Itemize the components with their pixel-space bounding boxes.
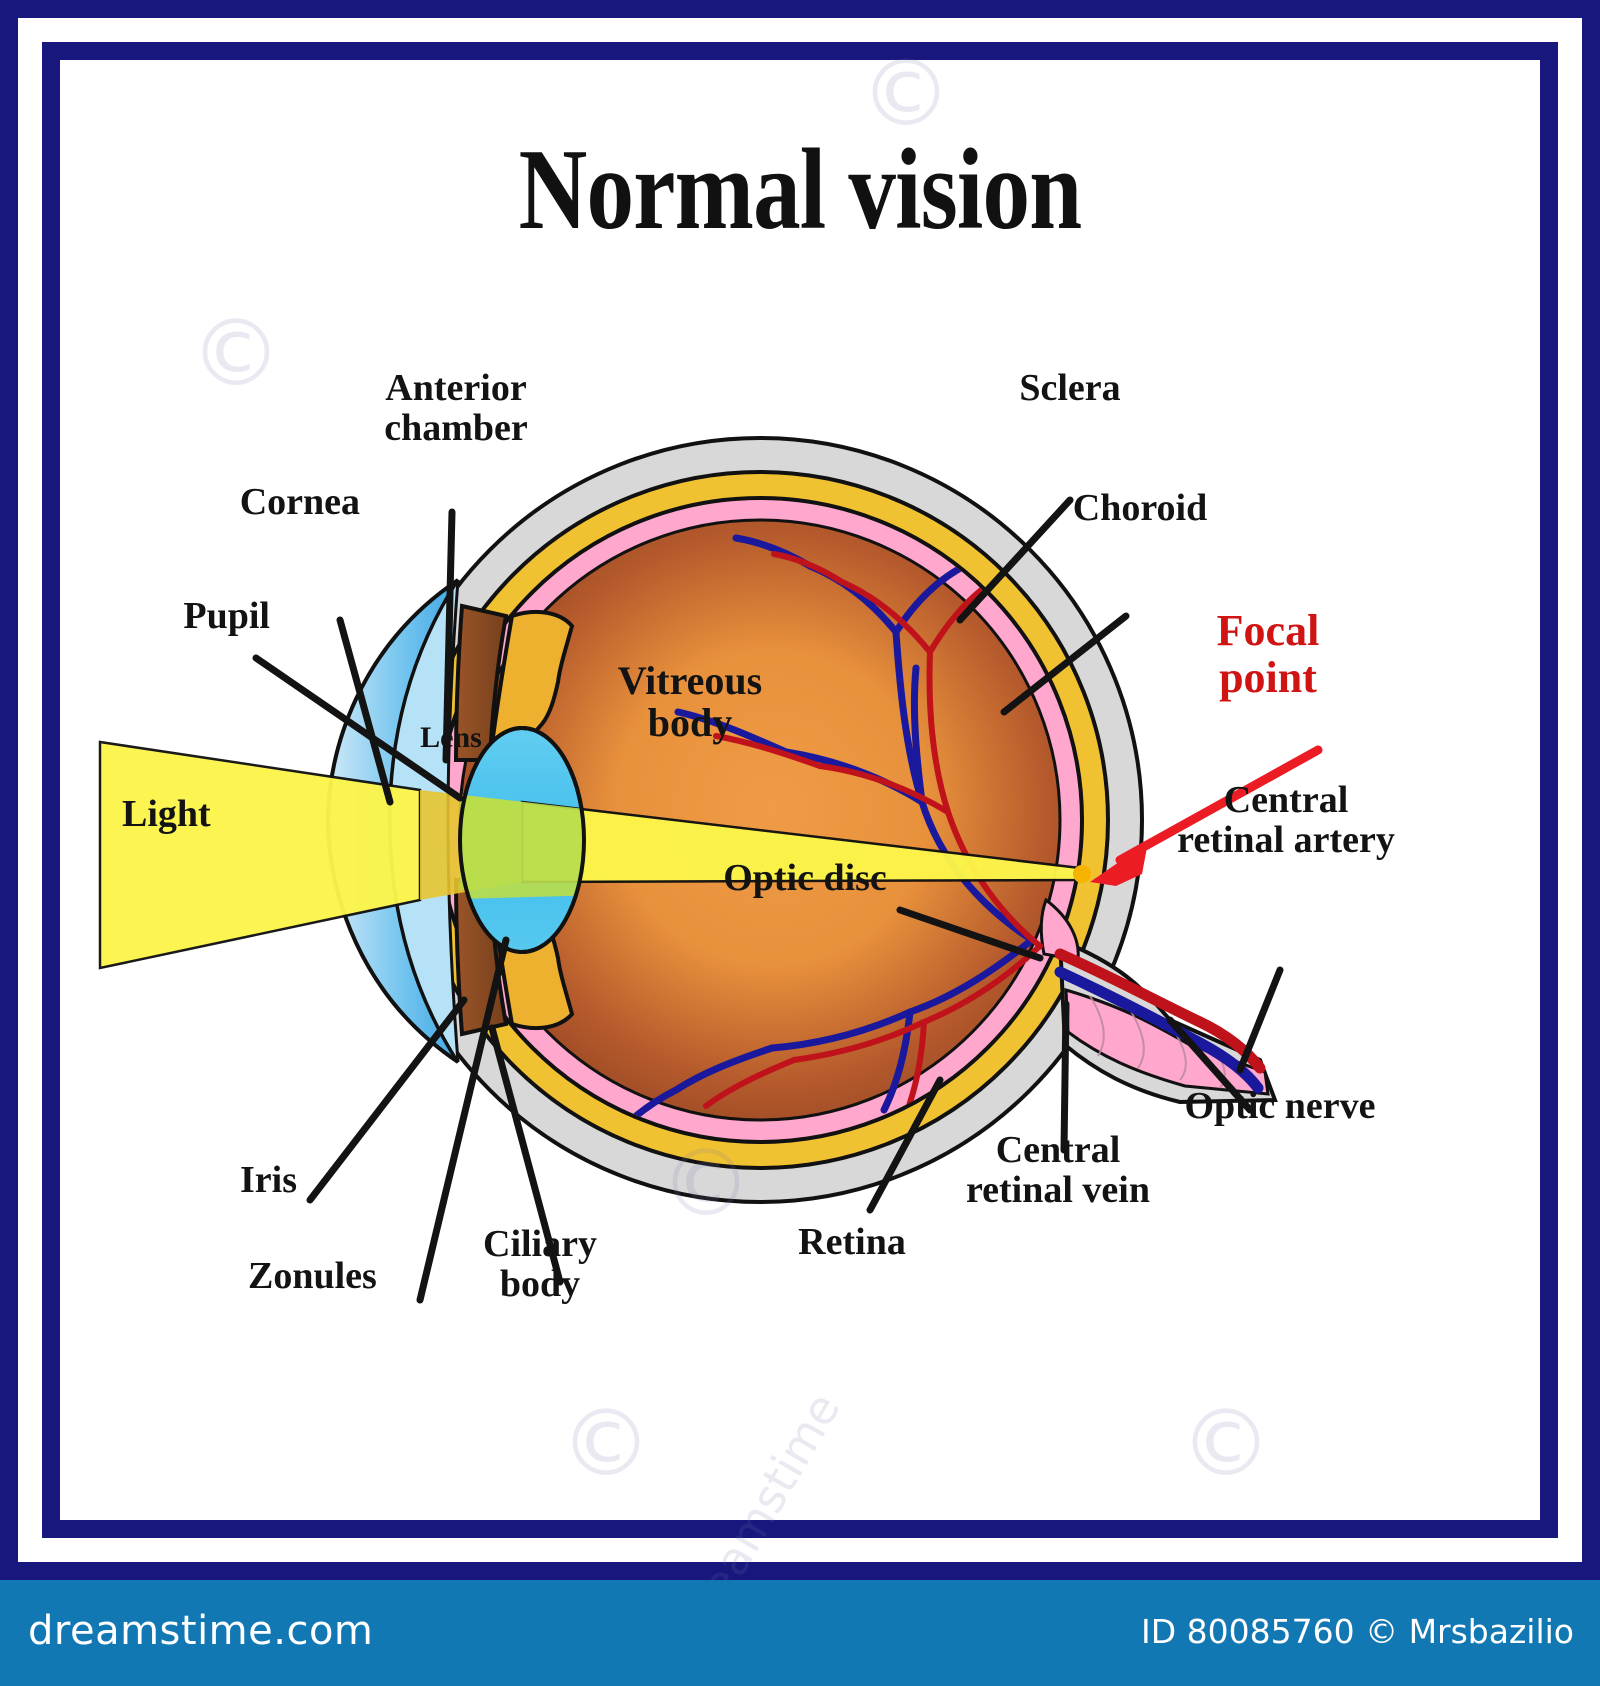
leader-central-retinal-artery — [1240, 970, 1280, 1070]
label-iris: Iris — [240, 1160, 400, 1200]
image-id-credit: ID 80085760 © Mrsbazilio — [1141, 1612, 1574, 1651]
label-optic-nerve: Optic nerve — [1140, 1086, 1420, 1126]
label-sclera: Sclera — [960, 368, 1180, 408]
stock-footer-bar: dreamstime.com ID 80085760 © Mrsbazilio — [0, 1580, 1600, 1686]
label-anterior-chamber: Anterior chamber — [326, 368, 586, 449]
label-pupil: Pupil — [110, 596, 270, 636]
stock-illustration-page: Normal vision — [0, 0, 1600, 1686]
dreamstime-brand[interactable]: dreamstime.com — [28, 1608, 373, 1654]
label-central-retinal-artery: Central retinal artery — [1136, 780, 1436, 861]
label-cornea: Cornea — [150, 482, 360, 522]
label-choroid: Choroid — [1020, 488, 1260, 528]
label-light: Light — [122, 794, 322, 834]
label-optic-disc: Optic disc — [680, 858, 930, 898]
label-retina: Retina — [752, 1222, 952, 1262]
focal-point-marker — [1073, 865, 1091, 883]
label-central-retinal-vein: Central retinal vein — [918, 1130, 1198, 1211]
label-focal-point: Focal point — [1148, 608, 1388, 701]
label-lens: Lens — [396, 722, 506, 754]
label-vitreous-body: Vitreous body — [540, 660, 840, 745]
label-ciliary-body: Ciliary body — [440, 1224, 640, 1305]
